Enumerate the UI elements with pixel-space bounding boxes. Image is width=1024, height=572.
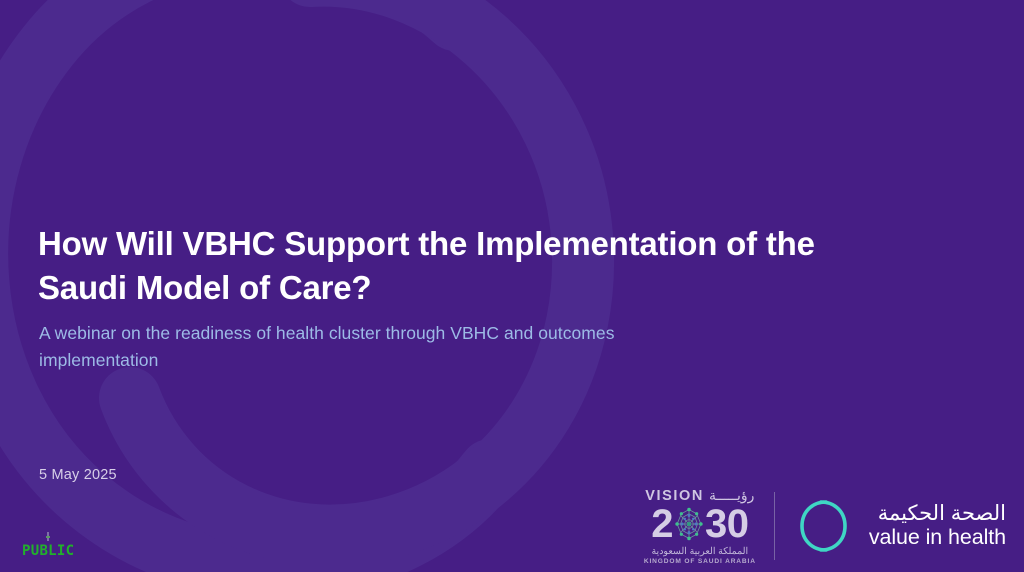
value-in-health-wordmark: الصحة الحكيمة value in health <box>869 502 1006 550</box>
classification-label: PUBLIC <box>22 544 74 558</box>
vision-2030-year: 2 <box>651 505 748 543</box>
vision-2030-logo: VISION رؤيـــــة 2 <box>644 487 774 565</box>
vision-year-left: 2 <box>651 505 673 543</box>
vision-kingdom-en: KINGDOM OF SAUDI ARABIA <box>644 558 756 565</box>
value-in-health-name-en: value in health <box>869 526 1006 550</box>
classification-marking: PUBLIC <box>22 532 74 558</box>
vision-kingdom-ar: المملكة العربية السعودية <box>651 546 748 557</box>
vision-2030-emblem-icon <box>672 507 706 541</box>
value-in-health-logo: الصحة الحكيمة value in health <box>795 495 1006 557</box>
classification-mark-icon <box>43 532 53 543</box>
value-in-health-name-ar: الصحة الحكيمة <box>869 502 1006 526</box>
slide-subtitle: A webinar on the readiness of health clu… <box>39 320 659 373</box>
slide-date: 5 May 2025 <box>39 467 117 483</box>
logo-strip: VISION رؤيـــــة 2 <box>644 488 1006 564</box>
presentation-slide: How Will VBHC Support the Implementation… <box>0 0 1024 572</box>
slide-title: How Will VBHC Support the Implementation… <box>38 222 838 310</box>
vision-year-right: 30 <box>705 505 749 543</box>
value-in-health-c-monogram-icon <box>795 495 857 557</box>
logo-divider <box>774 492 775 560</box>
